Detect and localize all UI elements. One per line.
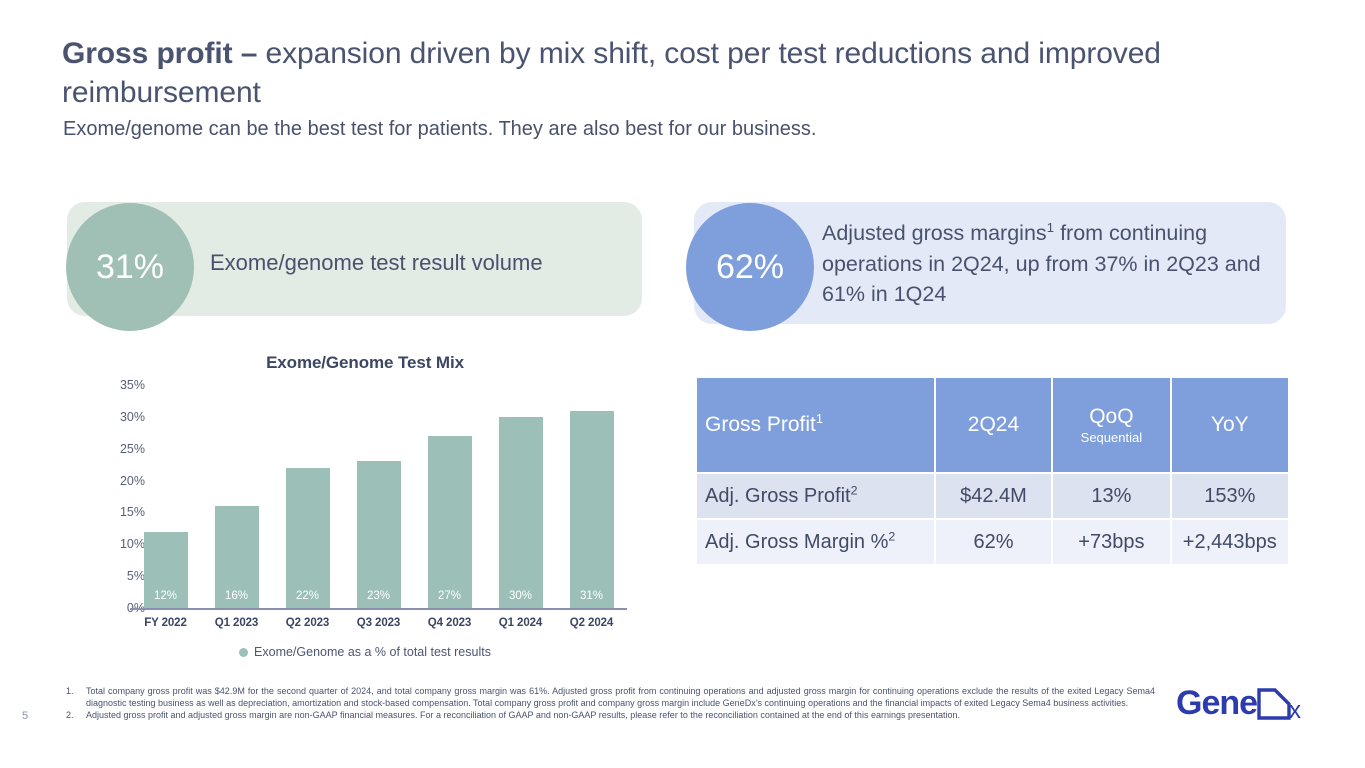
chart-x-axis-labels: FY 2022Q1 2023Q2 2023Q3 2023Q4 2023Q1 20… <box>130 617 627 637</box>
chart-bar: 30% <box>499 417 543 608</box>
chart-bar: 16% <box>215 506 259 608</box>
chart-bar-value-label: 23% <box>357 590 401 602</box>
chart-plot-area: 35%30%25%20%15%10%5%0% 12%16%22%23%27%30… <box>80 385 650 613</box>
table-header-yoy: YoY <box>1172 378 1288 472</box>
table-header-label: Gross Profit1 <box>697 378 934 472</box>
chart-x-tick: Q1 2024 <box>482 617 560 629</box>
page-number: 5 <box>22 710 28 722</box>
chart-x-tick: Q4 2023 <box>411 617 489 629</box>
page-title: Gross profit – expansion driven by mix s… <box>62 34 1292 112</box>
table-header-2q24: 2Q24 <box>936 378 1051 472</box>
genedx-logo: Gene x <box>1176 684 1326 726</box>
callout-bubble-margin: 62% <box>686 203 814 331</box>
chart-bar: 22% <box>286 468 330 608</box>
table-cell-2q24: $42.4M <box>936 474 1051 518</box>
chart-x-tick: Q1 2023 <box>198 617 276 629</box>
footnote-ref-1: 1 <box>816 411 823 426</box>
callout-text-volume: Exome/genome test result volume <box>210 249 630 277</box>
table-cell-label-text: Adj. Gross Margin % <box>705 531 888 553</box>
footnote-text: Total company gross profit was $42.9M fo… <box>86 686 1155 709</box>
chart-x-tick: Q2 2024 <box>553 617 631 629</box>
table-cell-label-text: Adj. Gross Profit <box>705 485 851 507</box>
page-title-lead: Gross profit – <box>62 37 257 70</box>
svg-text:Gene: Gene <box>1176 684 1257 722</box>
callout-bubble-volume: 31% <box>66 203 194 331</box>
table-header-row: Gross Profit1 2Q24 QoQSequential YoY <box>697 378 1288 472</box>
footnote-number: 2. <box>60 710 86 722</box>
footnote-ref-1: 1 <box>1047 220 1054 235</box>
table-cell-yoy: 153% <box>1172 474 1288 518</box>
footnotes: 1. Total company gross profit was $42.9M… <box>60 686 1155 723</box>
chart-x-tick: Q3 2023 <box>340 617 418 629</box>
table-row: Adj. Gross Margin %2 62% +73bps +2,443bp… <box>697 520 1288 564</box>
chart-x-axis-line <box>130 608 627 610</box>
footnote-ref-2: 2 <box>851 483 858 497</box>
table-cell-yoy: +2,443bps <box>1172 520 1288 564</box>
table-header-qoq-text: QoQ <box>1089 405 1133 428</box>
gross-profit-table: Gross Profit1 2Q24 QoQSequential YoY Adj… <box>695 376 1290 566</box>
chart-bar-value-label: 12% <box>144 590 188 602</box>
chart-x-tick: FY 2022 <box>127 617 205 629</box>
chart-bar: 27% <box>428 436 472 608</box>
footnote-item: 1. Total company gross profit was $42.9M… <box>60 686 1155 709</box>
footnote-item: 2. Adjusted gross profit and adjusted gr… <box>60 710 1155 722</box>
legend-swatch-icon <box>239 648 248 657</box>
table-header-qoq: QoQSequential <box>1053 378 1169 472</box>
table-cell-2q24: 62% <box>936 520 1051 564</box>
table-cell-qoq: 13% <box>1053 474 1169 518</box>
page-subtitle: Exome/genome can be the best test for pa… <box>63 116 816 142</box>
chart-bar: 31% <box>570 411 614 609</box>
svg-text:x: x <box>1289 697 1301 724</box>
chart-bar-value-label: 31% <box>570 590 614 602</box>
chart-bar-value-label: 27% <box>428 590 472 602</box>
callout-text-margin: Adjusted gross margins1 from continuing … <box>822 218 1277 310</box>
table-cell-qoq: +73bps <box>1053 520 1169 564</box>
table-header-qoq-sub: Sequential <box>1053 430 1169 445</box>
table-cell-label: Adj. Gross Profit2 <box>697 474 934 518</box>
chart-legend: Exome/Genome as a % of total test result… <box>80 645 650 659</box>
chart-exome-genome-test-mix: Exome/Genome Test Mix 35%30%25%20%15%10%… <box>80 345 650 670</box>
chart-bar-value-label: 22% <box>286 590 330 602</box>
chart-x-tick: Q2 2023 <box>269 617 347 629</box>
legend-label: Exome/Genome as a % of total test result… <box>254 645 491 659</box>
chart-bars: 12%16%22%23%27%30%31% <box>130 385 627 608</box>
chart-bar-value-label: 30% <box>499 590 543 602</box>
callout-text-margin-a: Adjusted gross margins <box>822 221 1047 245</box>
chart-title: Exome/Genome Test Mix <box>80 353 650 373</box>
footnote-text: Adjusted gross profit and adjusted gross… <box>86 710 1155 722</box>
table-header-label-text: Gross Profit <box>705 413 816 436</box>
table-cell-label: Adj. Gross Margin %2 <box>697 520 934 564</box>
footnote-number: 1. <box>60 686 86 709</box>
chart-bar: 23% <box>357 461 401 608</box>
chart-bar: 12% <box>144 532 188 608</box>
table-row: Adj. Gross Profit2 $42.4M 13% 153% <box>697 474 1288 518</box>
chart-bar-value-label: 16% <box>215 590 259 602</box>
footnote-ref-2: 2 <box>888 529 895 543</box>
